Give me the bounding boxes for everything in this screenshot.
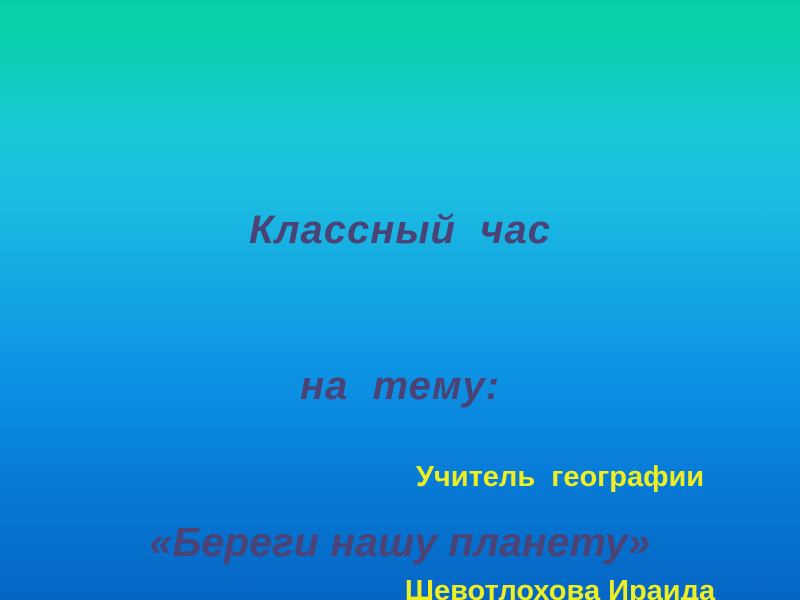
author-line-role: Учитель географии xyxy=(350,458,770,496)
author-line-name: Шевотлохова Ираида xyxy=(350,572,770,600)
slide-author-credit: Учитель географии Шевотлохова Ираида Кап… xyxy=(350,382,770,600)
presentation-slide: Классный час на тему: «Береги нашу плане… xyxy=(0,0,800,600)
title-line-1: Классный час xyxy=(0,204,800,256)
